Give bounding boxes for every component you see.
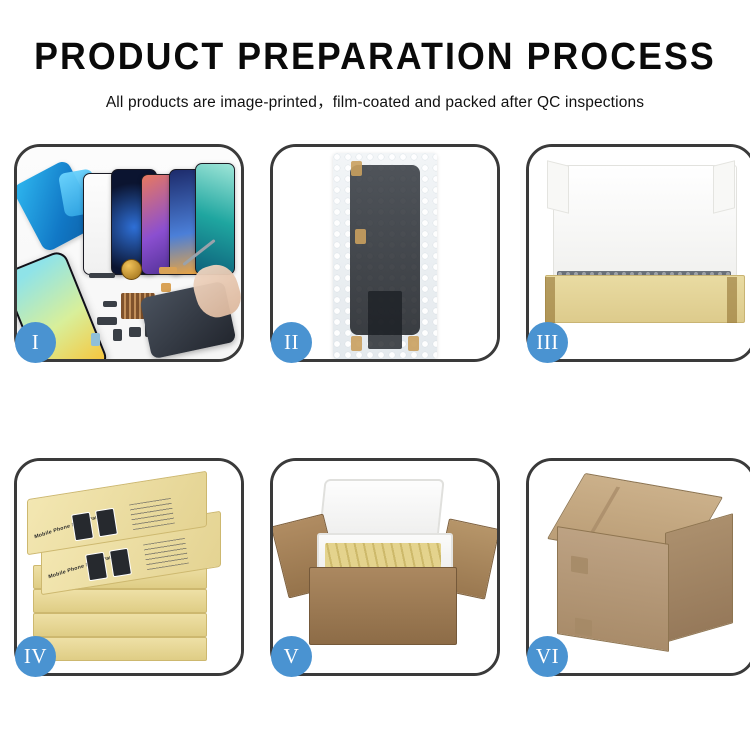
tape-piece [355,229,366,244]
page-title: PRODUCT PREPARATION PROCESS [23,38,728,78]
bubble-wrap-icon [273,147,497,359]
stacked-boxes-icon: Mobile Phone Spare Parts Mobile Phone Sp… [17,461,241,673]
process-step-2[interactable]: II [270,144,500,362]
tape-piece [351,161,362,176]
carton-front-face [557,526,669,652]
small-part [97,317,117,325]
page-header: PRODUCT PREPARATION PROCESS All products… [0,0,750,112]
foam-carton-icon [273,461,497,673]
phone-teal-screen [195,163,235,275]
stacked-box [33,637,207,661]
box-label-screen-image [85,552,108,582]
process-step-3[interactable]: III [526,144,750,362]
small-part [91,333,100,346]
flex-cable-part [159,267,177,274]
small-part [129,327,141,337]
step-badge-5: V [271,636,312,677]
carton-side-face [665,513,733,642]
process-step-5[interactable]: V [270,458,500,676]
box-label-screen-image [95,508,118,538]
box-lid-flap-left [547,160,569,213]
stacked-box [33,613,207,637]
box-corner-left [545,277,555,323]
small-part [103,301,117,307]
box-lid-panel [553,165,737,277]
lcd-flex-cable [368,291,402,349]
box-base-kraft [545,275,745,323]
tape-piece [351,336,362,351]
step-badge-2: II [271,322,312,363]
stacked-box [33,589,207,613]
step-badge-1: I [15,322,56,363]
process-step-4[interactable]: Mobile Phone Spare Parts Mobile Phone Sp… [14,458,244,676]
carton-tape-square [571,556,588,575]
page-subtitle: All products are image-printed，film-coat… [0,90,750,112]
small-part [113,329,122,341]
box-lid-flap-right [713,160,735,213]
small-part [89,273,115,278]
box-label-screen-image [71,512,94,542]
flex-cable-part [161,283,171,292]
process-step-6[interactable]: VI [526,458,750,676]
speaker-coil-part [121,259,142,280]
carton-tape-square [575,618,592,637]
step-badge-3: III [527,322,568,363]
phone-parts-icon [17,147,241,359]
process-grid: I II III [14,144,736,676]
bubble-wrap-bag [333,153,437,359]
step-badge-4: IV [15,636,56,677]
process-step-1[interactable]: I [14,144,244,362]
phone-fan-group [79,157,239,275]
box-corner-right [727,277,737,323]
box-label-screen-image [109,548,132,578]
tape-piece [408,336,419,351]
step-badge-6: VI [527,636,568,677]
carton-body [309,567,457,645]
